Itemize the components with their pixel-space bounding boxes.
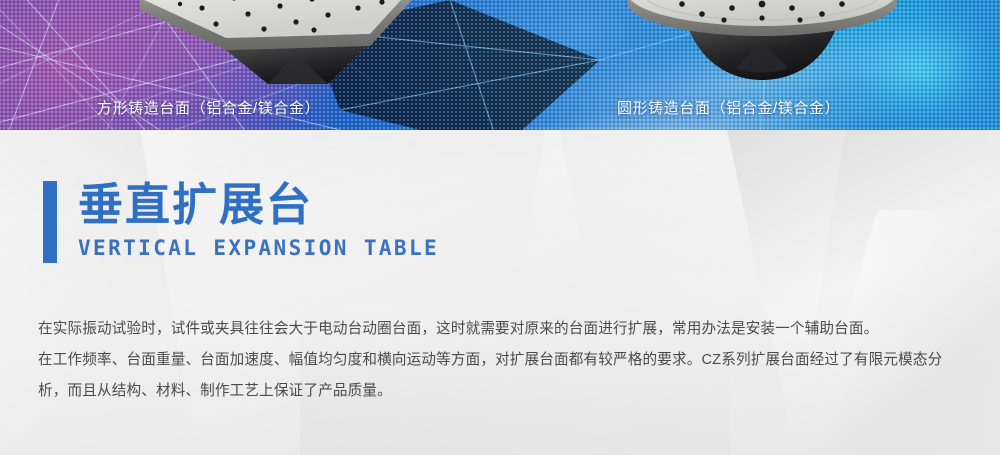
caption-square-cast-table: 方形铸造台面（铝合金/镁合金） (97, 98, 320, 120)
page-subtitle: VERTICAL EXPANSION TABLE (78, 236, 439, 260)
title-accent-bar (43, 181, 57, 263)
description-text: 在实际振动试验时，试件或夹具往往会大于电动台动圈台面，这时就需要对原来的台面进行… (38, 314, 968, 407)
page-title: 垂直扩展台 (78, 180, 439, 230)
title-text-group: 垂直扩展台 VERTICAL EXPANSION TABLE (78, 180, 439, 260)
round-cast-table-image (612, 0, 912, 80)
description-paragraph-2: 在工作频率、台面重量、台面加速度、幅值均匀度和横向运动等方面，对扩展台面都有较严… (38, 345, 968, 407)
description-paragraph-1: 在实际振动试验时，试件或夹具往往会大于电动台动圈台面，这时就需要对原来的台面进行… (38, 314, 968, 345)
product-detail-page: 方形铸造台面（铝合金/镁合金） 圆形铸造台面（铝合金/镁合金） 垂直扩展台 VE… (0, 0, 1000, 455)
square-cast-table-image (118, 0, 418, 84)
caption-round-cast-table: 圆形铸造台面（铝合金/镁合金） (617, 98, 840, 120)
page-title-block: 垂直扩展台 VERTICAL EXPANSION TABLE (43, 180, 439, 263)
